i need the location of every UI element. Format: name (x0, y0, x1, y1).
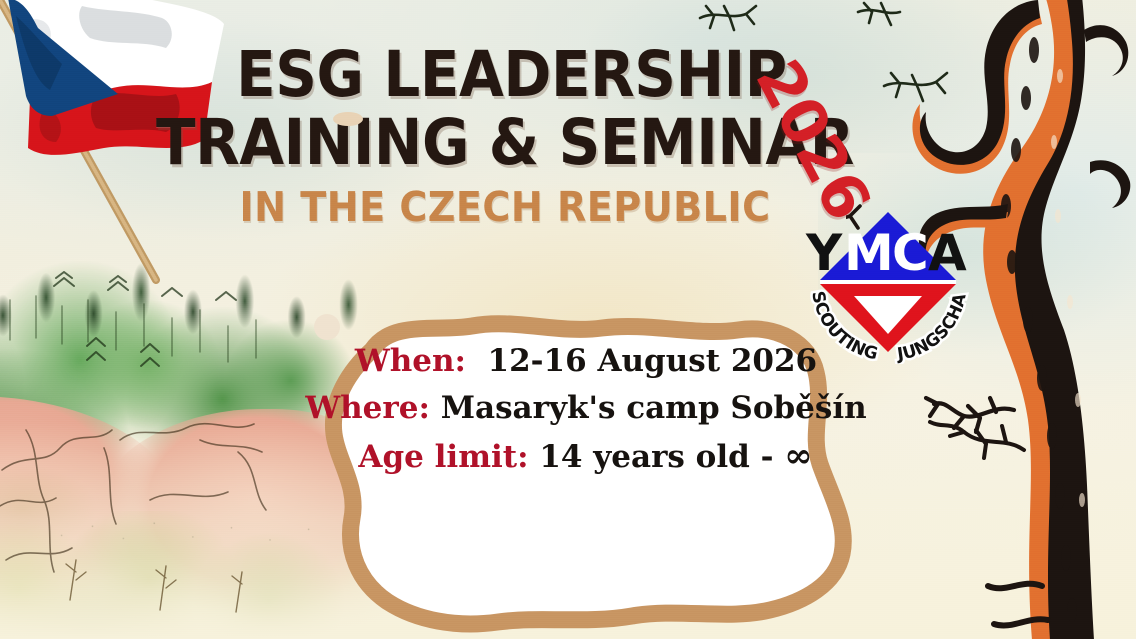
info-label-when: When: (355, 343, 466, 379)
info-value-age-limit: 14 years old - (539, 439, 773, 475)
logo-letter-c: C (892, 224, 929, 282)
ymca-diamond-logo-icon: SCOUTING JUNGSCHAR Y M C A (800, 192, 976, 364)
info-row-where: Where: Masaryk's camp Soběšín (276, 385, 896, 432)
infinity-symbol: ∞ (784, 436, 813, 476)
info-row-age-limit: Age limit: 14 years old - ∞ (276, 431, 896, 482)
poster-canvas: ESG LEADERSHIP TRAINING & SEMINAR IN THE… (0, 0, 1136, 639)
info-value-where: Masaryk's camp Soběšín (441, 390, 867, 426)
info-label-age-limit: Age limit: (358, 439, 528, 475)
logo-letter-y: Y (805, 224, 843, 282)
info-value-when: 12-16 August 2026 (488, 343, 818, 379)
card-decor-blob-top (333, 112, 363, 126)
logo-letter-a: A (928, 224, 967, 282)
card-decor-blob-left (314, 314, 340, 340)
info-label-where: Where: (305, 390, 430, 426)
logo-letter-m: M (844, 224, 894, 282)
